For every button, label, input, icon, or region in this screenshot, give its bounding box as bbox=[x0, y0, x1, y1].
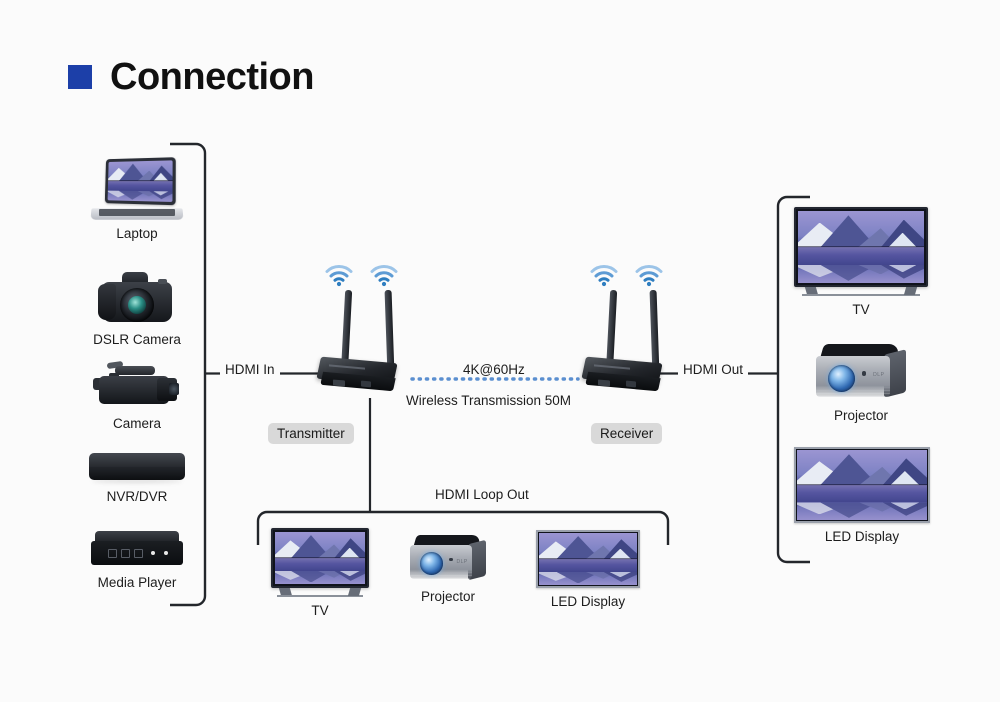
source-device-label: Media Player bbox=[98, 575, 177, 590]
projector-icon: DLP bbox=[410, 535, 486, 583]
media-player-icon bbox=[91, 531, 183, 569]
wifi-signal-icon bbox=[589, 263, 619, 287]
hdmi-in-label: HDMI In bbox=[220, 362, 280, 377]
source-device-media-player: Media Player bbox=[91, 531, 183, 590]
title-bullet-icon bbox=[68, 65, 92, 89]
projector-icon: DLP bbox=[816, 344, 906, 402]
connection-diagram: Connection HDMI In HDMI Out HDMI Loop Ou… bbox=[0, 0, 1000, 702]
receiver-badge: Receiver bbox=[591, 423, 662, 444]
wifi-signal-icon bbox=[324, 263, 354, 287]
loop-out-device-projector: DLP Projector bbox=[410, 535, 486, 604]
hdmi-out-label: HDMI Out bbox=[678, 362, 748, 377]
output-device-label: LED Display bbox=[825, 529, 899, 544]
loop-out-device-label: TV bbox=[311, 603, 328, 618]
link-description-label: Wireless Transmission 50M bbox=[401, 393, 576, 408]
source-device-label: Laptop bbox=[116, 226, 157, 241]
hdmi-loop-out-label: HDMI Loop Out bbox=[430, 487, 534, 502]
nvr-dvr-icon bbox=[89, 453, 185, 483]
led-display-icon bbox=[794, 447, 930, 523]
led-display-icon bbox=[536, 530, 640, 588]
tv-icon bbox=[271, 528, 369, 597]
wifi-signal-icon bbox=[369, 263, 399, 287]
output-device-label: TV bbox=[852, 302, 869, 317]
loop-out-device-label: Projector bbox=[421, 589, 475, 604]
page-title-text: Connection bbox=[110, 58, 314, 96]
dslr-camera-icon bbox=[98, 270, 176, 326]
source-device-nvr-dvr: NVR/DVR bbox=[89, 453, 185, 504]
laptop-icon bbox=[91, 158, 183, 220]
wifi-signal-icon bbox=[634, 263, 664, 287]
loop-out-device-label: LED Display bbox=[551, 594, 625, 609]
receiver-device bbox=[570, 263, 680, 403]
page-title: Connection bbox=[68, 58, 314, 96]
source-device-label: NVR/DVR bbox=[107, 489, 168, 504]
source-device-laptop: Laptop bbox=[91, 158, 183, 241]
transmitter-badge: Transmitter bbox=[268, 423, 354, 444]
output-device-label: Projector bbox=[834, 408, 888, 423]
source-device-camera: Camera bbox=[93, 360, 181, 431]
source-device-dslr-camera: DSLR Camera bbox=[98, 270, 176, 347]
camcorder-icon bbox=[93, 360, 181, 410]
source-device-label: Camera bbox=[113, 416, 161, 431]
loop-out-device-tv: TV bbox=[271, 528, 369, 618]
output-device-projector: DLP Projector bbox=[816, 344, 906, 423]
output-device-led-display: LED Display bbox=[795, 447, 929, 544]
output-device-tv: TV bbox=[793, 207, 929, 317]
transmitter-device bbox=[305, 263, 415, 403]
loop-out-device-led-display: LED Display bbox=[536, 530, 640, 609]
source-device-label: DSLR Camera bbox=[93, 332, 181, 347]
tv-icon bbox=[794, 207, 928, 296]
link-resolution-label: 4K@60Hz bbox=[458, 362, 530, 377]
